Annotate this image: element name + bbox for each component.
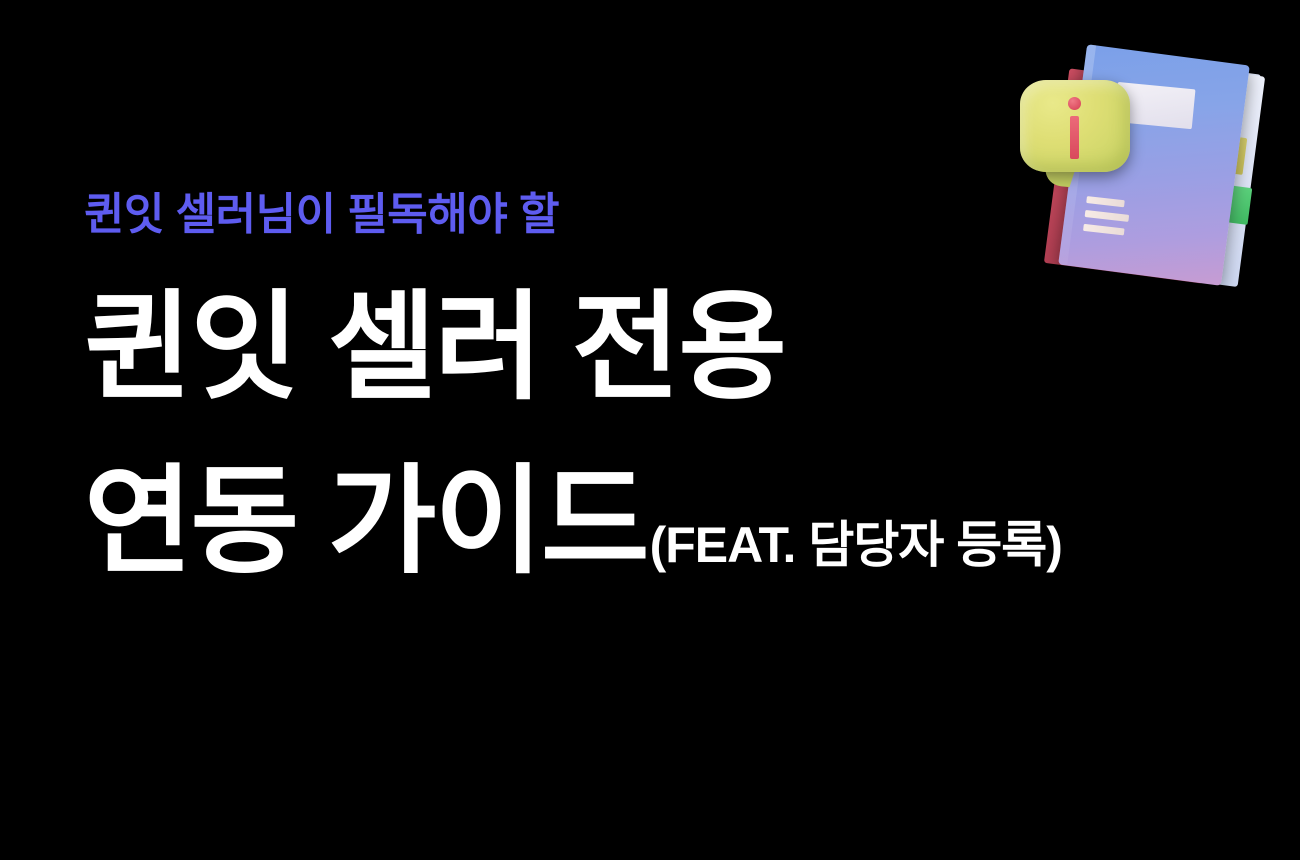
page-title-line-2: 연동 가이드 bbox=[84, 463, 648, 581]
info-icon-dot bbox=[1068, 97, 1081, 110]
page-title-line-1: 퀸잇 셀러 전용 bbox=[84, 289, 1204, 407]
notebook-text-line bbox=[1085, 210, 1130, 222]
notebook-text-lines bbox=[1082, 196, 1146, 245]
page-title-suffix: (FEAT. 담당자 등록) bbox=[650, 520, 1062, 570]
notebook-text-line bbox=[1083, 224, 1125, 236]
info-icon-stem bbox=[1070, 116, 1079, 159]
promo-banner: 퀸잇 셀러님이 필독해야 할 퀸잇 셀러 전용 연동 가이드 (FEAT. 담당… bbox=[0, 0, 1300, 860]
notebook-text-line bbox=[1086, 196, 1125, 207]
page-title-line-2-row: 연동 가이드 (FEAT. 담당자 등록) bbox=[84, 463, 1204, 581]
speech-bubble-body bbox=[1020, 80, 1130, 172]
info-speech-bubble-icon bbox=[1020, 80, 1136, 188]
notebook-illustration bbox=[1012, 42, 1284, 294]
